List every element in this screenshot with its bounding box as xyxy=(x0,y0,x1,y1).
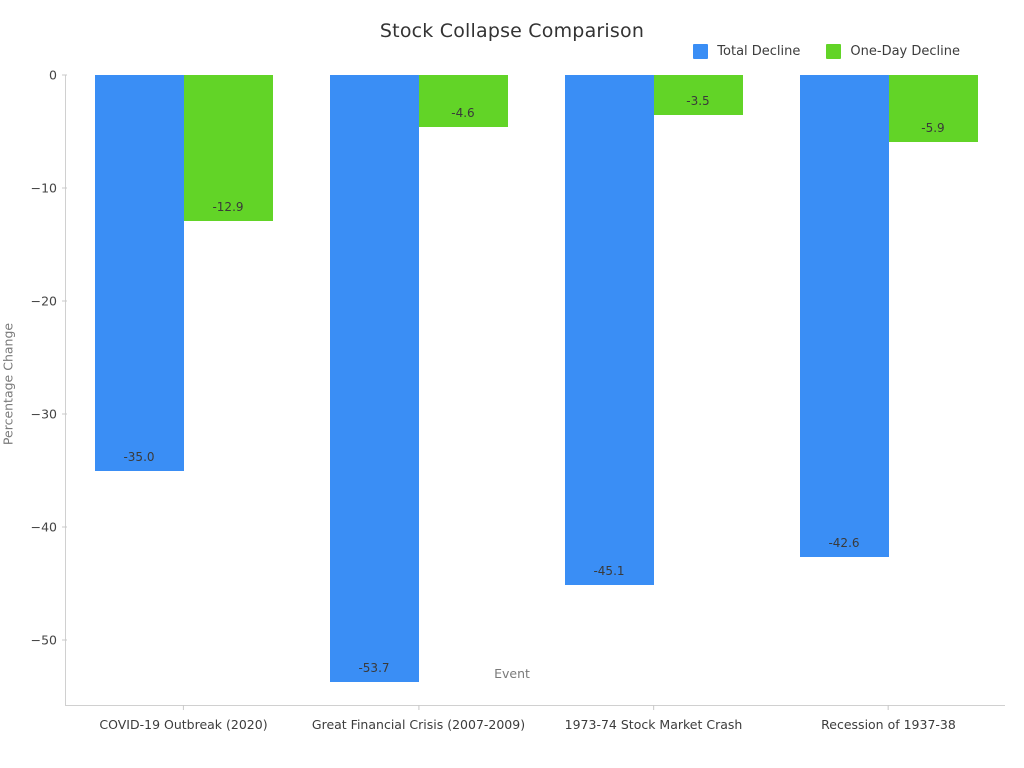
y-axis-tick-label: −30 xyxy=(31,407,62,422)
bar-value-label: -45.1 xyxy=(565,564,654,578)
legend-swatch-total-decline xyxy=(693,44,708,59)
y-axis-tick-mark xyxy=(62,188,67,189)
legend-item-total-decline[interactable]: Total Decline xyxy=(693,44,800,59)
y-axis-tick-label: −40 xyxy=(31,520,62,535)
x-axis-tick: Recession of 1937-38 xyxy=(821,705,956,732)
bar-one-day-decline[interactable]: -5.9 xyxy=(889,75,978,142)
bar-value-label: -12.9 xyxy=(184,200,273,214)
y-axis-tick: −40 xyxy=(31,520,66,535)
bar-value-label: -42.6 xyxy=(800,536,889,550)
x-axis-tick: Great Financial Crisis (2007-2009) xyxy=(312,705,525,732)
y-axis-title: Percentage Change xyxy=(1,323,16,445)
y-axis-tick-mark xyxy=(62,527,67,528)
y-axis-tick-label: −50 xyxy=(31,633,62,648)
bar-total-decline[interactable]: -45.1 xyxy=(565,75,654,585)
y-axis-tick-label: −20 xyxy=(31,294,62,309)
x-axis-tick: COVID-19 Outbreak (2020) xyxy=(99,705,267,732)
chart-legend: Total Decline One-Day Decline xyxy=(693,44,960,59)
x-axis-tick-label: Recession of 1937-38 xyxy=(821,717,956,732)
bar-total-decline[interactable]: -35.0 xyxy=(95,75,184,471)
bar-value-label: -5.9 xyxy=(889,121,978,135)
x-axis-title: Event xyxy=(0,666,1024,681)
x-axis-tick-mark xyxy=(183,705,184,710)
x-axis-tick-mark xyxy=(888,705,889,710)
x-axis-tick: 1973-74 Stock Market Crash xyxy=(565,705,743,732)
y-axis-tick: −20 xyxy=(31,294,66,309)
y-axis-tick-mark xyxy=(62,640,67,641)
x-axis-tick-mark xyxy=(418,705,419,710)
legend-swatch-one-day-decline xyxy=(826,44,841,59)
y-axis-tick-mark xyxy=(62,75,67,76)
x-axis-tick-label: Great Financial Crisis (2007-2009) xyxy=(312,717,525,732)
y-axis-tick: 0 xyxy=(49,68,66,83)
x-axis-tick-mark xyxy=(653,705,654,710)
bar-total-decline[interactable]: -42.6 xyxy=(800,75,889,557)
bar-value-label: -3.5 xyxy=(654,94,743,108)
legend-label-total-decline: Total Decline xyxy=(717,44,800,59)
bar-one-day-decline[interactable]: -3.5 xyxy=(654,75,743,115)
bar-one-day-decline[interactable]: -12.9 xyxy=(184,75,273,221)
bar-total-decline[interactable]: -53.7 xyxy=(330,75,419,682)
chart-title: Stock Collapse Comparison xyxy=(0,20,1024,42)
x-axis-tick-label: 1973-74 Stock Market Crash xyxy=(565,717,743,732)
y-axis-tick-label: 0 xyxy=(49,68,62,83)
y-axis-tick: −30 xyxy=(31,407,66,422)
legend-item-one-day-decline[interactable]: One-Day Decline xyxy=(826,44,960,59)
y-axis-tick-mark xyxy=(62,414,67,415)
y-axis-tick-label: −10 xyxy=(31,181,62,196)
x-axis-tick-label: COVID-19 Outbreak (2020) xyxy=(99,717,267,732)
y-axis-tick: −50 xyxy=(31,633,66,648)
y-axis-tick: −10 xyxy=(31,181,66,196)
bar-value-label: -35.0 xyxy=(95,450,184,464)
legend-label-one-day-decline: One-Day Decline xyxy=(850,44,960,59)
y-axis-tick-mark xyxy=(62,301,67,302)
chart-container: Stock Collapse Comparison Total Decline … xyxy=(0,0,1024,768)
bar-value-label: -4.6 xyxy=(419,106,508,120)
plot-area: 0−10−20−30−40−50COVID-19 Outbreak (2020)… xyxy=(65,75,1005,706)
bar-one-day-decline[interactable]: -4.6 xyxy=(419,75,508,127)
